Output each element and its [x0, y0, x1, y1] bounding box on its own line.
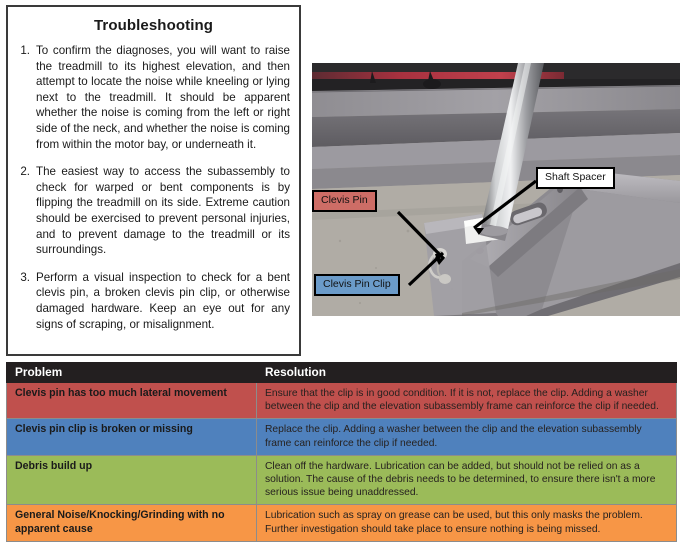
cell-resolution: Ensure that the clip is in good conditio… — [257, 383, 677, 419]
cell-problem: Clevis pin clip is broken or missing — [7, 419, 257, 455]
list-item: 1. To confirm the diagnoses, you will wa… — [17, 43, 290, 152]
cell-resolution: Clean off the hardware. Lubrication can … — [257, 455, 677, 505]
column-header-resolution: Resolution — [257, 363, 677, 383]
callout-shaft-spacer: Shaft Spacer — [536, 167, 615, 189]
treadmill-subassembly-photo: Clevis Pin Shaft Spacer Clevis Pin Clip — [312, 63, 680, 316]
list-item-text: To confirm the diagnoses, you will want … — [36, 43, 290, 152]
troubleshooting-panel: Troubleshooting 1. To confirm the diagno… — [6, 5, 301, 356]
troubleshooting-table: Problem Resolution Clevis pin has too mu… — [6, 362, 677, 542]
list-item-number: 3. — [17, 270, 36, 286]
list-item: 3. Perform a visual inspection to check … — [17, 270, 290, 332]
list-item-text: The easiest way to access the subassembl… — [36, 164, 290, 258]
callout-label: Shaft Spacer — [545, 171, 606, 183]
cell-resolution: Replace the clip. Adding a washer betwee… — [257, 419, 677, 455]
column-header-problem: Problem — [7, 363, 257, 383]
callout-clevis-pin: Clevis Pin — [312, 190, 377, 212]
list-item-number: 1. — [17, 43, 36, 59]
table-row: Clevis pin has too much lateral movement… — [7, 383, 677, 419]
callout-label: Clevis Pin — [321, 194, 368, 206]
table-row: General Noise/Knocking/Grinding with no … — [7, 505, 677, 541]
cell-resolution: Lubrication such as spray on grease can … — [257, 505, 677, 541]
callout-label: Clevis Pin Clip — [323, 278, 391, 290]
cell-problem: Debris build up — [7, 455, 257, 505]
cell-problem: General Noise/Knocking/Grinding with no … — [7, 505, 257, 541]
table-row: Clevis pin clip is broken or missingRepl… — [7, 419, 677, 455]
callout-clevis-pin-clip: Clevis Pin Clip — [314, 274, 400, 296]
page-title: Troubleshooting — [17, 17, 290, 34]
list-item: 2. The easiest way to access the subasse… — [17, 164, 290, 258]
cell-problem: Clevis pin has too much lateral movement — [7, 383, 257, 419]
table-header-row: Problem Resolution — [7, 363, 677, 383]
list-item-number: 2. — [17, 164, 36, 180]
list-item-text: Perform a visual inspection to check for… — [36, 270, 290, 332]
table-row: Debris build upClean off the hardware. L… — [7, 455, 677, 505]
